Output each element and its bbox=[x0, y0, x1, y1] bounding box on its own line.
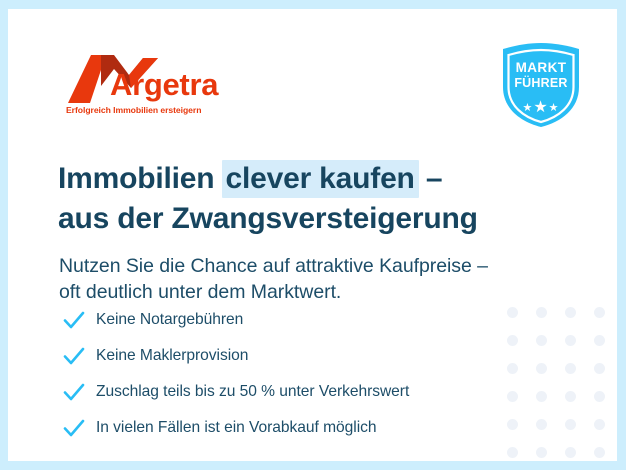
feature-label: Keine Maklerprovision bbox=[96, 347, 248, 365]
dot bbox=[565, 307, 576, 318]
shield-icon bbox=[495, 39, 587, 131]
dot bbox=[594, 335, 605, 346]
dot bbox=[565, 447, 576, 458]
list-item: Zuschlag teils bis zu 50 % unter Verkehr… bbox=[62, 377, 522, 407]
market-leader-badge: MARKT FÜHRER ★★★ bbox=[495, 39, 587, 131]
headline-part2: – bbox=[418, 162, 443, 195]
dot bbox=[565, 391, 576, 402]
dot bbox=[594, 391, 605, 402]
headline-highlight: clever kaufen bbox=[222, 160, 419, 198]
check-icon bbox=[62, 344, 86, 368]
dot bbox=[565, 363, 576, 374]
check-icon bbox=[62, 308, 86, 332]
feature-label: Keine Notargebühren bbox=[96, 311, 243, 329]
list-item: In vielen Fällen ist ein Vorabkauf mögli… bbox=[62, 413, 522, 443]
dot bbox=[594, 447, 605, 458]
logo-tagline: Erfolgreich Immobilien ersteigern bbox=[66, 105, 201, 115]
argetra-logo[interactable]: Argetra Erfolgreich Immobilien ersteiger… bbox=[65, 53, 255, 115]
dot bbox=[594, 307, 605, 318]
dot bbox=[536, 335, 547, 346]
dot bbox=[536, 391, 547, 402]
list-item: Keine Notargebühren bbox=[62, 305, 522, 335]
headline-line2: aus der Zwangsversteigerung bbox=[58, 201, 578, 238]
dot bbox=[536, 363, 547, 374]
dot bbox=[594, 363, 605, 374]
dot bbox=[536, 419, 547, 430]
subtitle-line1: Nutzen Sie die Chance auf attraktive Kau… bbox=[59, 255, 488, 277]
list-item: Keine Maklerprovision bbox=[62, 341, 522, 371]
dot bbox=[594, 419, 605, 430]
dot bbox=[536, 447, 547, 458]
check-icon bbox=[62, 416, 86, 440]
page-subtitle: Nutzen Sie die Chance auf attraktive Kau… bbox=[59, 253, 579, 307]
feature-label: In vielen Fällen ist ein Vorabkauf mögli… bbox=[96, 419, 376, 437]
headline-part1: Immobilien bbox=[58, 162, 223, 195]
dot bbox=[565, 419, 576, 430]
promo-banner: Argetra Erfolgreich Immobilien ersteiger… bbox=[0, 0, 626, 470]
feature-list: Keine Notargebühren Keine Maklerprovisio… bbox=[62, 305, 522, 449]
banner-card: Argetra Erfolgreich Immobilien ersteiger… bbox=[8, 9, 617, 461]
check-icon bbox=[62, 380, 86, 404]
subtitle-line2: oft deutlich unter dem Marktwert. bbox=[59, 279, 579, 306]
dot bbox=[536, 307, 547, 318]
page-title: Immobilien clever kaufen – aus der Zwang… bbox=[58, 161, 578, 237]
logo-wordmark: Argetra bbox=[110, 69, 218, 100]
feature-label: Zuschlag teils bis zu 50 % unter Verkehr… bbox=[96, 383, 409, 401]
dot bbox=[565, 335, 576, 346]
